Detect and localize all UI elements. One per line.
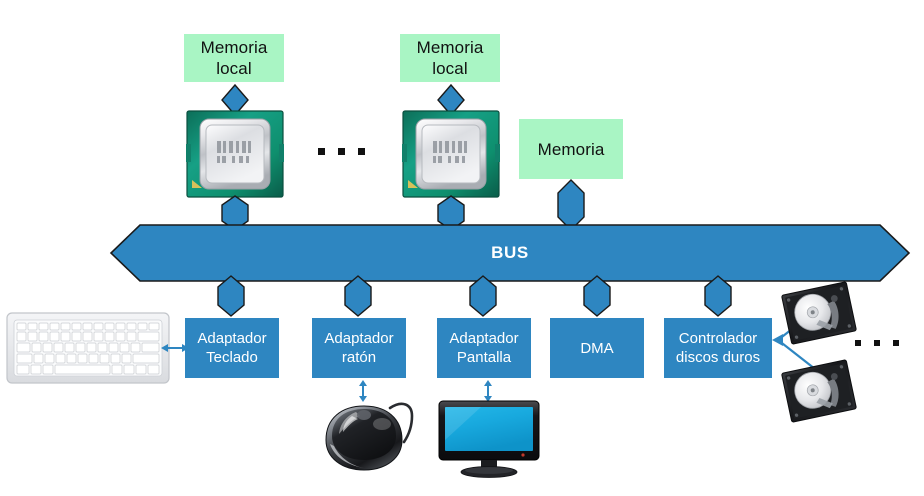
memoria-local-1-line2: local xyxy=(201,58,268,79)
adaptador-teclado-line1: Adaptador xyxy=(197,329,266,348)
connector-bus-pantalla-icon xyxy=(469,276,497,316)
cpu-1-icon xyxy=(186,110,284,198)
controlador-discos-line1: Controlador xyxy=(676,329,760,348)
adaptador-teclado-box: Adaptador Teclado xyxy=(185,318,279,378)
controlador-discos-box: Controlador discos duros xyxy=(664,318,772,378)
adaptador-pantalla-line2: Pantalla xyxy=(449,348,518,367)
system-bus: BUS xyxy=(110,224,910,282)
memoria-local-2: Memoria local xyxy=(400,34,500,82)
dma-box: DMA xyxy=(550,318,644,378)
dma-line1: DMA xyxy=(580,339,613,358)
hard-disk-1-icon xyxy=(780,282,858,344)
adaptador-raton-line2: ratón xyxy=(324,348,393,367)
cpu-ellipsis xyxy=(318,148,365,155)
disk-ellipsis xyxy=(855,340,899,346)
connector-pantalla-adaptador-icon xyxy=(477,380,499,402)
connector-bus-raton-icon xyxy=(344,276,372,316)
connector-bus-dma-icon xyxy=(583,276,611,316)
memoria-compartida-label: Memoria xyxy=(538,139,605,160)
bus-shape-icon xyxy=(110,224,910,282)
keyboard-icon xyxy=(6,312,170,384)
controlador-discos-line2: discos duros xyxy=(676,348,760,367)
memoria-compartida: Memoria xyxy=(519,119,623,179)
connector-memoria-bus-icon xyxy=(557,180,585,230)
adaptador-raton-box: Adaptador ratón xyxy=(312,318,406,378)
memoria-local-2-line1: Memoria xyxy=(417,37,484,58)
connector-bus-discos-icon xyxy=(704,276,732,316)
mouse-icon xyxy=(312,394,422,476)
adaptador-pantalla-line1: Adaptador xyxy=(449,329,518,348)
cpu-2-icon xyxy=(402,110,500,198)
memoria-local-1-line1: Memoria xyxy=(201,37,268,58)
hard-disk-2-icon xyxy=(780,360,858,422)
adaptador-raton-line1: Adaptador xyxy=(324,329,393,348)
memoria-local-2-line2: local xyxy=(417,58,484,79)
connector-teclado-adaptador-icon xyxy=(161,340,189,356)
monitor-icon xyxy=(437,400,541,478)
adaptador-teclado-line2: Teclado xyxy=(197,348,266,367)
memoria-local-1: Memoria local xyxy=(184,34,284,82)
adaptador-pantalla-box: Adaptador Pantalla xyxy=(437,318,531,378)
diagram-canvas: Memoria local Memoria local Memoria xyxy=(0,0,924,496)
connector-bus-teclado-icon xyxy=(217,276,245,316)
